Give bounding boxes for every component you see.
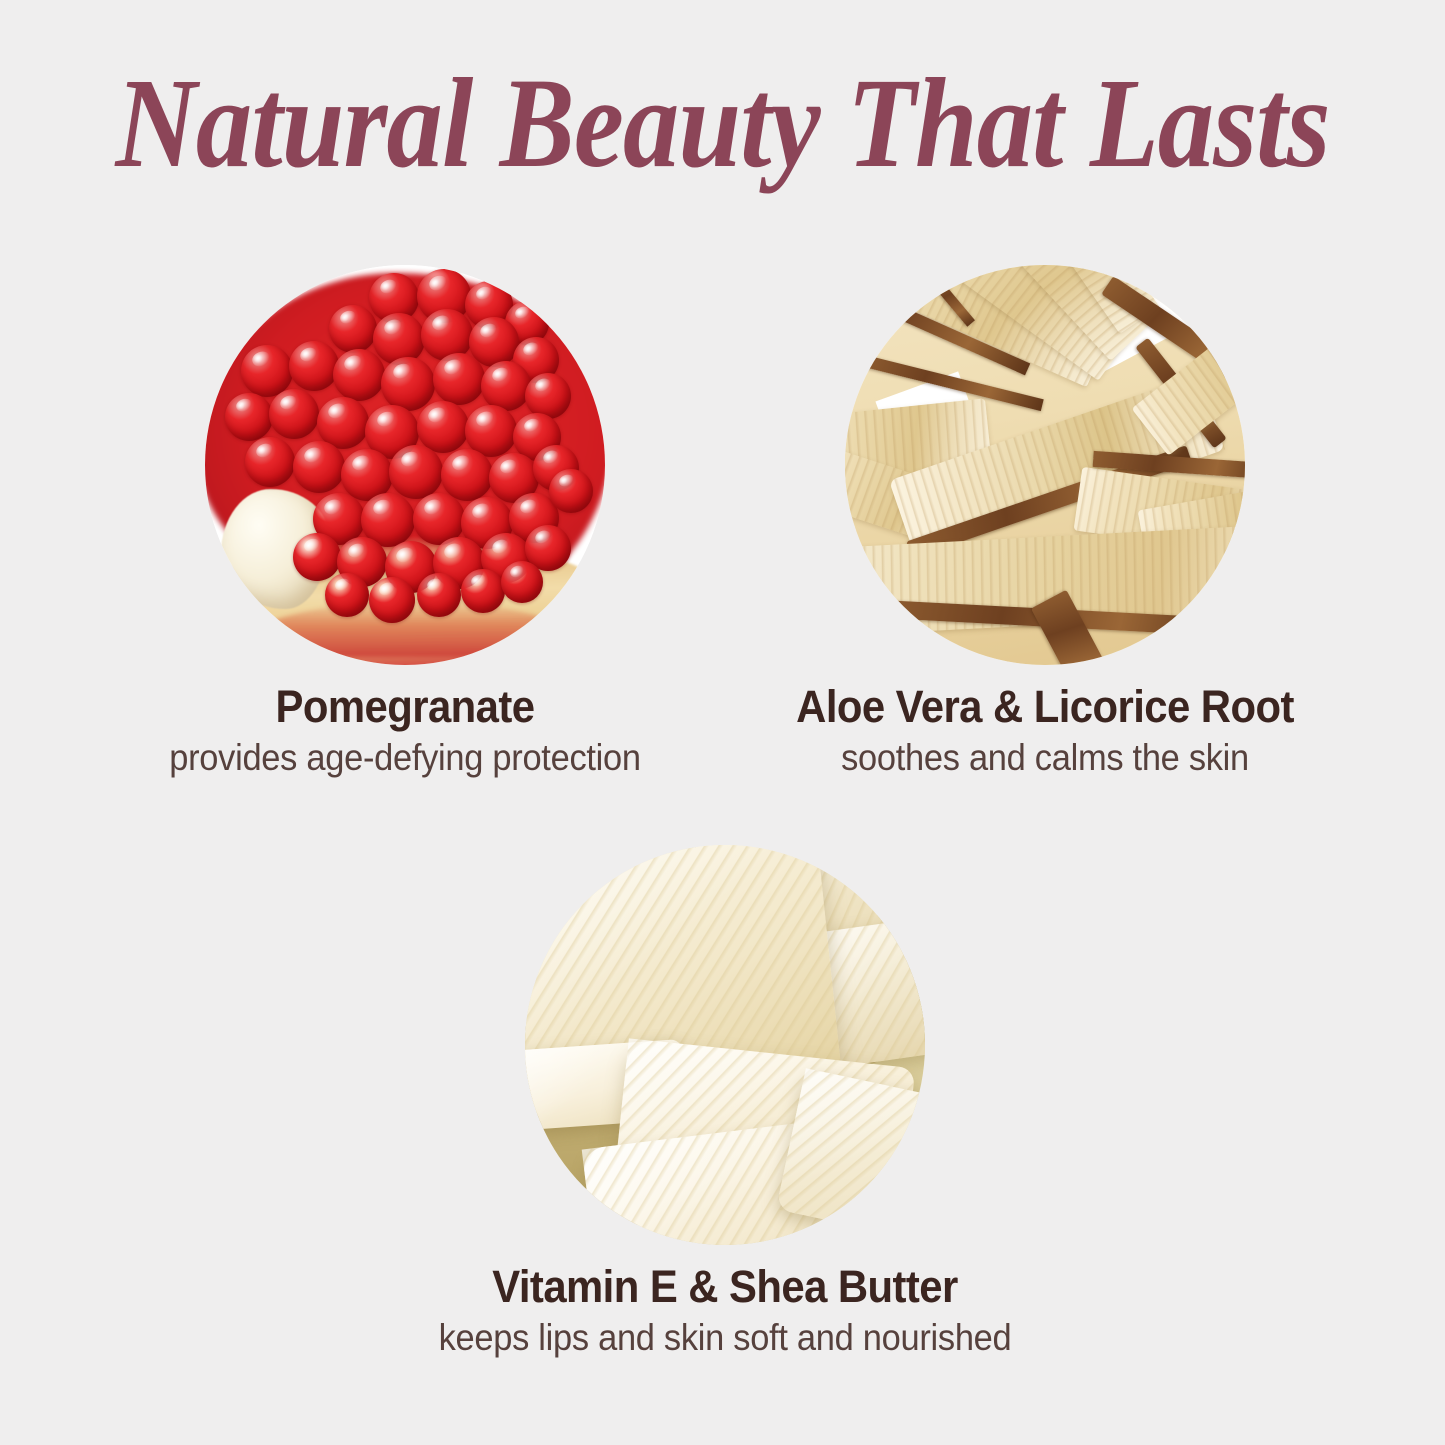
- ingredient-title-pomegranate: Pomegranate: [70, 683, 740, 731]
- infographic-page: Natural Beauty That Lasts: [0, 0, 1445, 1445]
- shea-image-wrap: [365, 845, 1085, 1245]
- aril: [329, 305, 377, 353]
- aril: [293, 533, 341, 581]
- pomegranate-circle-image: [205, 265, 605, 665]
- aril: [461, 569, 505, 613]
- pomegranate-image-wrap: [45, 265, 765, 665]
- aril: [373, 313, 425, 365]
- ingredient-card-shea-butter: Vitamin E & Shea Butter keeps lips and s…: [365, 845, 1085, 1358]
- aril: [417, 573, 461, 617]
- aril: [381, 357, 435, 411]
- aril: [293, 441, 345, 493]
- aril: [225, 393, 273, 441]
- aril: [289, 341, 339, 391]
- ingredient-subtitle-pomegranate: provides age-defying protection: [70, 738, 740, 779]
- aril: [245, 437, 295, 487]
- aril: [501, 561, 543, 603]
- aril: [269, 389, 319, 439]
- shea-circle-image: [525, 845, 925, 1245]
- ingredient-subtitle-shea-butter: keeps lips and skin soft and nourished: [390, 1318, 1060, 1359]
- aril: [325, 573, 369, 617]
- ingredient-card-pomegranate: Pomegranate provides age-defying protect…: [45, 265, 765, 778]
- aril: [433, 353, 485, 405]
- aril: [369, 577, 415, 623]
- ingredient-card-aloe-licorice: Aloe Vera & Licorice Root soothes and ca…: [685, 265, 1405, 778]
- page-title: Natural Beauty That Lasts: [87, 58, 1359, 189]
- aril: [389, 445, 443, 499]
- ingredient-title-shea-butter: Vitamin E & Shea Butter: [390, 1263, 1060, 1311]
- aril: [417, 401, 469, 453]
- licorice-image-wrap: [685, 265, 1405, 665]
- aril: [525, 373, 571, 419]
- licorice-circle-image: [845, 265, 1245, 665]
- aril: [549, 469, 593, 513]
- aril: [333, 349, 385, 401]
- aril: [481, 361, 531, 411]
- aril: [241, 345, 293, 397]
- ingredient-title-aloe-licorice: Aloe Vera & Licorice Root: [710, 683, 1380, 731]
- aril: [441, 449, 493, 501]
- ingredient-subtitle-aloe-licorice: soothes and calms the skin: [710, 738, 1380, 779]
